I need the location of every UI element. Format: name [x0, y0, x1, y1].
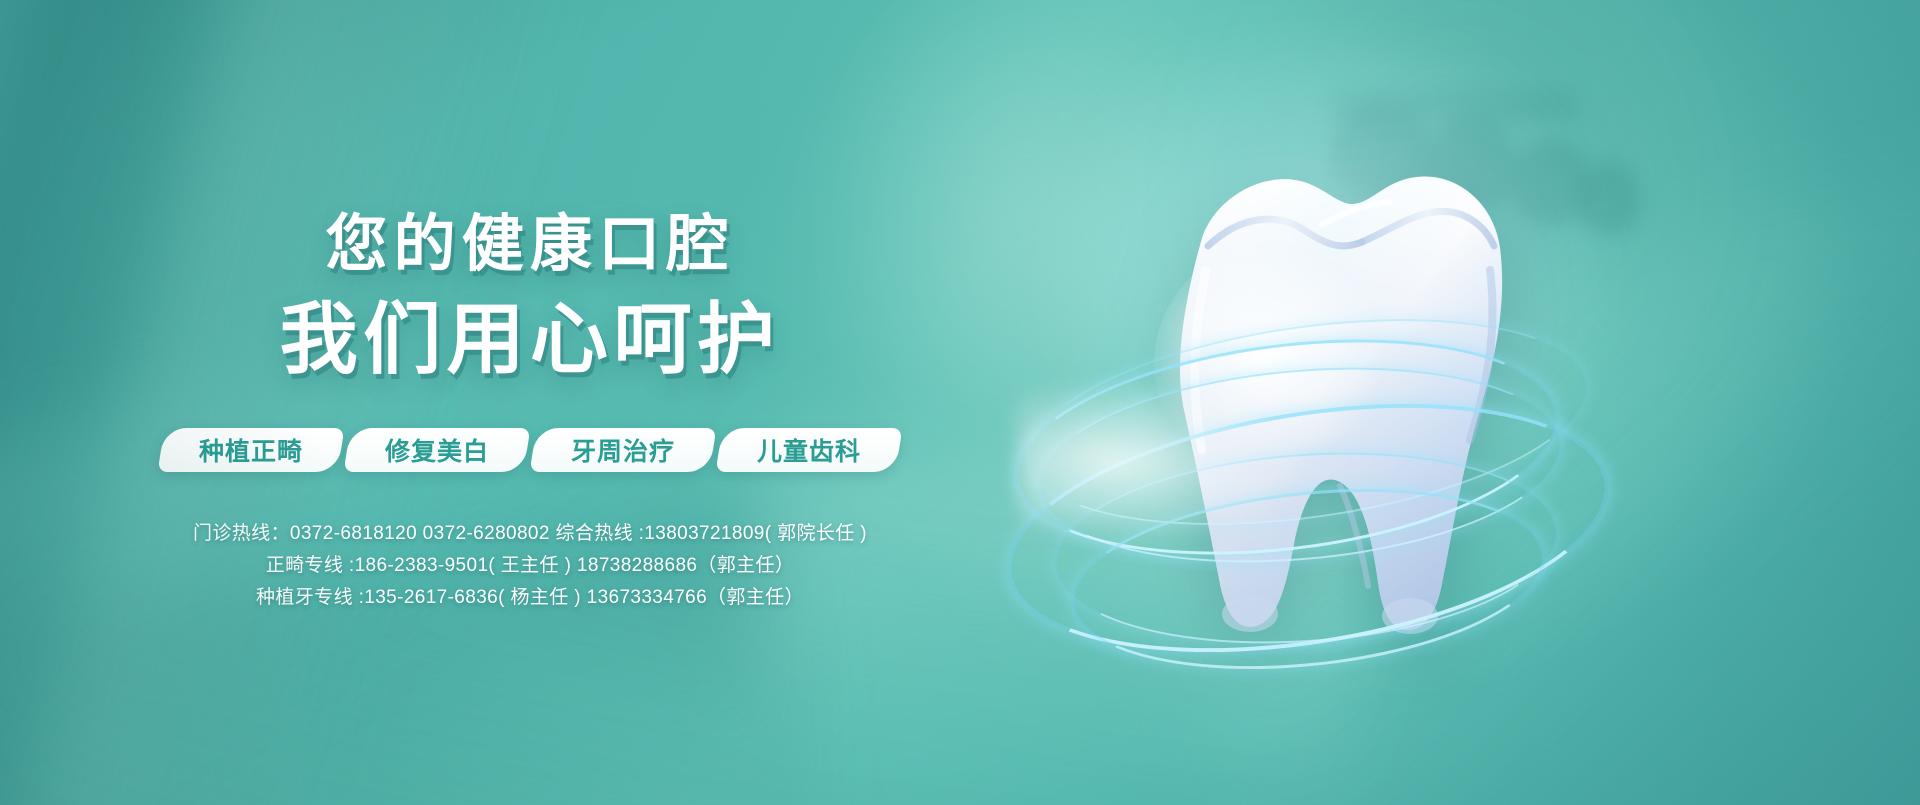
service-tag-restoration-whitening[interactable]: 修复美白 [344, 428, 531, 472]
service-tag-label: 种植正畸 [199, 432, 303, 468]
headline-line-2: 我们用心呵护 [0, 300, 1060, 378]
service-tag-list: 种植正畸 修复美白 牙周治疗 儿童齿科 [0, 428, 1060, 472]
service-tag-label: 牙周治疗 [571, 432, 675, 468]
banner-content: 您的健康口腔 我们用心呵护 种植正畸 修复美白 牙周治疗 儿童齿科 门诊热线：0… [0, 0, 1060, 805]
service-tag-label: 修复美白 [385, 432, 489, 468]
service-tag-label: 儿童齿科 [757, 432, 861, 468]
service-tag-pediatric[interactable]: 儿童齿科 [716, 428, 903, 472]
tooth-icon [1090, 120, 1560, 650]
service-tag-periodontal[interactable]: 牙周治疗 [530, 428, 717, 472]
dental-clinic-banner: 您的健康口腔 我们用心呵护 种植正畸 修复美白 牙周治疗 儿童齿科 门诊热线：0… [0, 0, 1920, 805]
contact-line-implant: 种植牙专线 :135-2617-6836( 杨主任 ) 13673334766（… [0, 582, 1060, 609]
headline-line-1: 您的健康口腔 [0, 214, 1060, 276]
contact-line-outpatient: 门诊热线：0372-6818120 0372-6280802 综合热线 :138… [0, 518, 1060, 545]
contact-line-orthodontics: 正畸专线 :186-2383-9501( 王主任 ) 18738288686（郭… [0, 550, 1060, 577]
tooth-illustration [1090, 120, 1560, 650]
service-tag-implant-ortho[interactable]: 种植正畸 [158, 428, 345, 472]
